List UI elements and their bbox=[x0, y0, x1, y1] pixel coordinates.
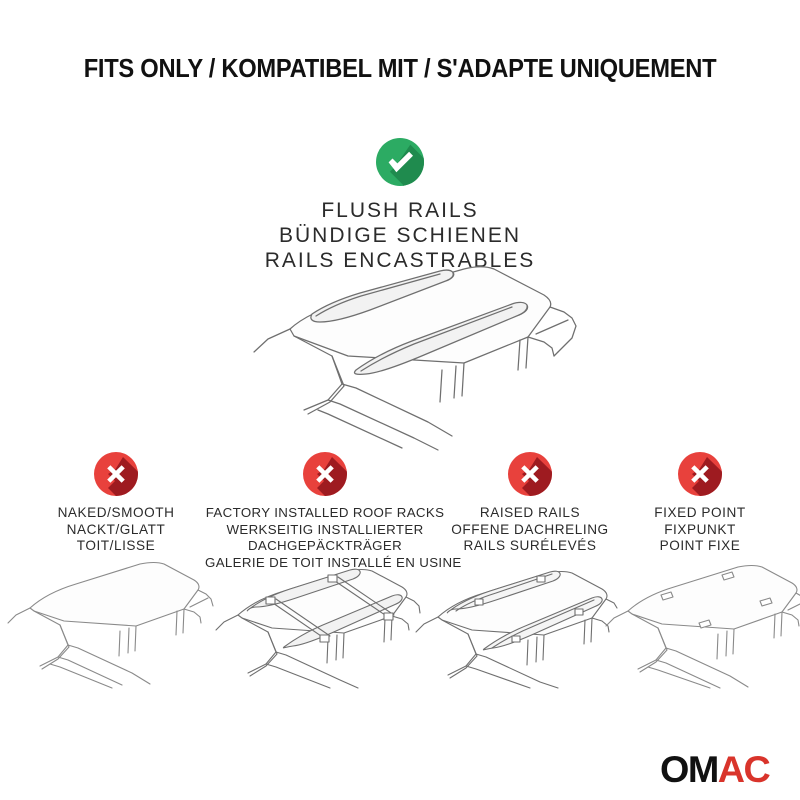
incompatible-label-line-1: NAKED/SMOOTH bbox=[16, 505, 216, 522]
compatible-label-en: FLUSH RAILS bbox=[0, 198, 800, 223]
incompatible-labels: RAISED RAILS OFFENE DACHRELING RAILS SUR… bbox=[434, 505, 626, 555]
incompatible-label-line-1: FIXED POINT bbox=[612, 505, 788, 522]
car-roof-naked-smooth-illustration bbox=[8, 553, 213, 688]
incompatible-label-line-1: FACTORY INSTALLED ROOF RACKS bbox=[205, 505, 445, 522]
omac-logo: OMAC bbox=[660, 752, 792, 788]
incompatible-item-raised-rails: RAISED RAILS OFFENE DACHRELING RAILS SUR… bbox=[434, 452, 626, 555]
incompatible-item-fixed-point: FIXED POINT FIXPUNKT POINT FIXE bbox=[612, 452, 788, 555]
omac-logo-om: OM bbox=[660, 749, 718, 790]
car-roof-with-flush-rails-illustration bbox=[228, 260, 600, 450]
car-roof-with-fixed-points-illustration bbox=[604, 553, 800, 688]
compatible-label-de: BÜNDIGE SCHIENEN bbox=[0, 223, 800, 248]
red-x-circle-icon bbox=[94, 452, 138, 496]
page-title: FITS ONLY / KOMPATIBEL MIT / S'ADAPTE UN… bbox=[28, 55, 772, 84]
green-check-circle-icon bbox=[376, 138, 424, 186]
incompatible-labels: NAKED/SMOOTH NACKT/GLATT TOIT/LISSE bbox=[16, 505, 216, 555]
incompatible-label-line-1: RAISED RAILS bbox=[434, 505, 626, 522]
omac-logo-ac: AC bbox=[718, 749, 769, 790]
incompatible-label-line-2: OFFENE DACHRELING bbox=[434, 522, 626, 539]
incompatible-labels: FIXED POINT FIXPUNKT POINT FIXE bbox=[612, 505, 788, 555]
incompatible-label-line-2: WERKSEITIG INSTALLIERTER bbox=[205, 522, 445, 539]
incompatible-label-line-2: NACKT/GLATT bbox=[16, 522, 216, 539]
red-x-circle-icon bbox=[678, 452, 722, 496]
red-x-circle-icon bbox=[508, 452, 552, 496]
incompatible-item-naked-smooth: NAKED/SMOOTH NACKT/GLATT TOIT/LISSE bbox=[16, 452, 216, 555]
compatible-section: FLUSH RAILS BÜNDIGE SCHIENEN RAILS ENCAS… bbox=[0, 138, 800, 273]
omac-logo-text: OMAC bbox=[660, 752, 795, 788]
incompatible-label-line-2: FIXPUNKT bbox=[612, 522, 788, 539]
car-roof-with-factory-rack-crossbars-illustration bbox=[208, 553, 420, 688]
red-x-circle-icon bbox=[303, 452, 347, 496]
car-roof-with-raised-rails-illustration bbox=[412, 553, 617, 688]
